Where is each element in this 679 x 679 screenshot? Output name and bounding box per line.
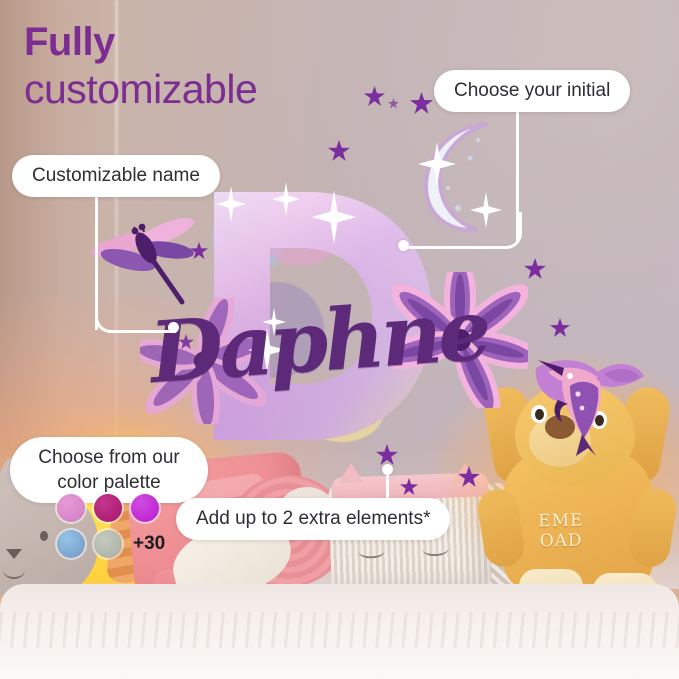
callout-customizable-name[interactable]: Customizable name (12, 155, 220, 197)
callout-extra-elements[interactable]: Add up to 2 extra elements* (176, 498, 450, 540)
hummingbird-sticker (518, 338, 650, 456)
connector-dot-customizable-name (168, 322, 179, 333)
connector-dot-extra-elements (382, 464, 393, 475)
connector-dot-initial (398, 240, 409, 251)
dog-embroidery-line1: EME (509, 510, 613, 532)
callout-color-palette-line1: Choose from our (38, 447, 180, 468)
swatch-row-1 (57, 494, 207, 522)
dog-embroidery-line2: OAD (509, 530, 613, 552)
swatch-orchid[interactable] (57, 494, 85, 522)
callout-color-palette-line2: color palette (57, 472, 161, 493)
connector-initial-elbow (404, 212, 522, 249)
connector-customizable-name-elbow (95, 300, 176, 333)
headline: Fully customizable (24, 20, 257, 112)
headline-line-2: customizable (24, 66, 257, 112)
bed-mattress (0, 584, 679, 679)
swatch-light-blue[interactable] (57, 530, 85, 558)
callout-choose-your-initial[interactable]: Choose your initial (434, 70, 630, 112)
swatch-purple[interactable] (131, 494, 159, 522)
dragonfly-sticker (88, 198, 200, 310)
color-palette-swatches[interactable]: +30 (57, 494, 207, 566)
swatch-more-count[interactable]: +30 (133, 533, 165, 555)
personalized-name: Daphne (147, 289, 472, 395)
cat-pillow-ear-left (338, 463, 364, 483)
swatch-magenta[interactable] (94, 494, 122, 522)
product-marketing-image: EME OAD (0, 0, 679, 679)
dog-plush-embroidery: EME OAD (509, 510, 614, 552)
swatch-sage-grey[interactable] (94, 530, 122, 558)
headline-line-1: Fully (24, 20, 257, 64)
swatch-row-2: +30 (57, 530, 207, 558)
